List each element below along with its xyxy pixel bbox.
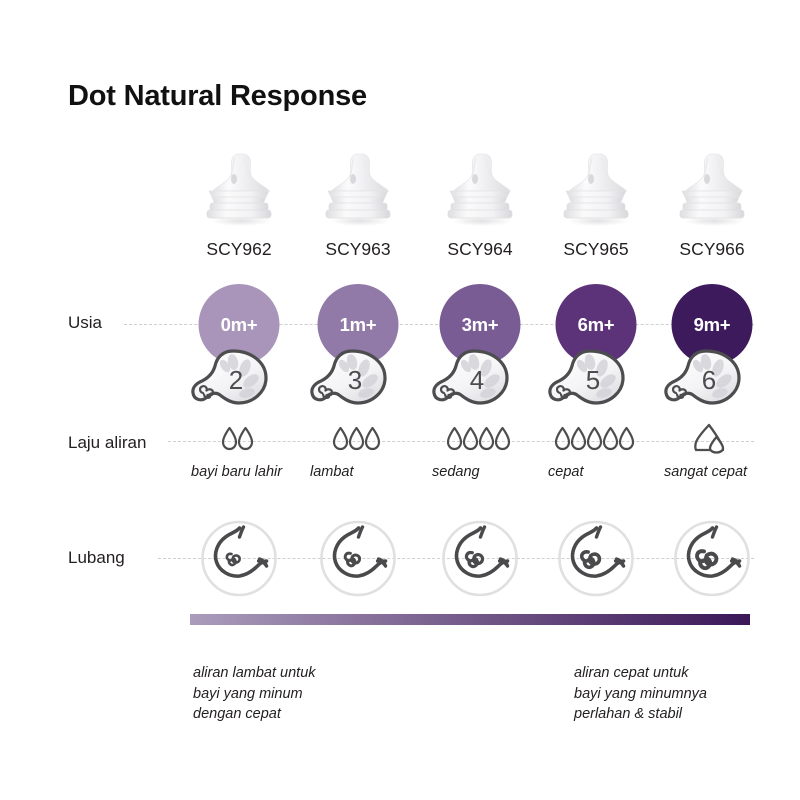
- hole-diagram: [319, 519, 398, 598]
- nipple-size-icon-5: 5: [546, 348, 630, 412]
- age-label: 0m+: [221, 314, 258, 336]
- bottle-teat-icon: [664, 142, 760, 226]
- flow-rate-label: cepat: [534, 463, 664, 482]
- nipple-number-icon: 5: [546, 348, 630, 412]
- nipple-number-icon: 4: [430, 348, 514, 412]
- flow-rate-drops: [692, 421, 732, 455]
- drop-icon: [366, 428, 379, 449]
- drop-group: [446, 425, 514, 451]
- age-label: 9m+: [694, 314, 731, 336]
- teat-image-2: [432, 142, 528, 226]
- nipple-size-icon-2: 2: [189, 348, 273, 412]
- product-code: SCY963: [300, 239, 416, 260]
- drop-group: [554, 425, 638, 451]
- svg-text:4: 4: [470, 365, 484, 395]
- double-drop-icon: [692, 422, 732, 454]
- nipple-hole-icon: [200, 519, 279, 598]
- nipple-size-icon-4: 4: [430, 348, 514, 412]
- teat-image-1: [310, 142, 406, 226]
- hole-diagram: [200, 519, 279, 598]
- drop-group: [221, 425, 257, 451]
- svg-text:3: 3: [348, 365, 362, 395]
- product-code: SCY965: [538, 239, 654, 260]
- drop-icon: [350, 428, 363, 449]
- teat-image-4: [664, 142, 760, 226]
- age-label: 1m+: [340, 314, 377, 336]
- svg-text:5: 5: [586, 365, 600, 395]
- drop-icon: [239, 428, 252, 449]
- nipple-number-icon: 6: [662, 348, 746, 412]
- drop-icon: [572, 428, 585, 449]
- teat-image-0: [191, 142, 287, 226]
- drop-icon: [464, 428, 477, 449]
- product-column-scy964[interactable]: SCY964 3m+ 4: [422, 0, 538, 800]
- drop-icon: [223, 428, 236, 449]
- drop-icon: [588, 428, 601, 449]
- row-label-hole: Lubang: [68, 548, 125, 568]
- row-label-age: Usia: [68, 313, 102, 333]
- product-column-scy963[interactable]: SCY963 1m+ 3: [300, 0, 416, 800]
- product-column-scy962[interactable]: SCY962 0m+ 2: [181, 0, 297, 800]
- bottle-teat-icon: [432, 142, 528, 226]
- bottle-teat-icon: [310, 142, 406, 226]
- nipple-hole-icon: [557, 519, 636, 598]
- svg-text:6: 6: [702, 365, 716, 395]
- drop-icon: [604, 428, 617, 449]
- flow-rate-label: bayi baru lahir: [177, 463, 307, 482]
- nipple-size-icon-6: 6: [662, 348, 746, 412]
- bottle-teat-icon: [191, 142, 287, 226]
- nipple-number-icon: 3: [308, 348, 392, 412]
- teat-image-3: [548, 142, 644, 226]
- drop-icon: [334, 428, 347, 449]
- drop-icon: [556, 428, 569, 449]
- drop-icon: [620, 428, 633, 449]
- flow-rate-label: lambat: [296, 463, 426, 482]
- drop-group: [332, 425, 384, 451]
- hole-diagram: [673, 519, 752, 598]
- nipple-flow-comparison-chart: Dot Natural Response Usia Laju aliran Lu…: [0, 0, 800, 800]
- flow-rate-drops: [332, 421, 384, 455]
- bottle-teat-icon: [548, 142, 644, 226]
- product-code: SCY966: [654, 239, 770, 260]
- hole-diagram: [557, 519, 636, 598]
- product-column-scy965[interactable]: SCY965 6m+ 5: [538, 0, 654, 800]
- nipple-number-icon: 2: [189, 348, 273, 412]
- flow-rate-drops: [221, 421, 257, 455]
- nipple-hole-icon: [319, 519, 398, 598]
- drop-icon: [480, 428, 493, 449]
- flow-rate-drops: [446, 421, 514, 455]
- svg-text:2: 2: [229, 365, 243, 395]
- flow-rate-drops: [554, 421, 638, 455]
- age-label: 3m+: [462, 314, 499, 336]
- hole-diagram: [441, 519, 520, 598]
- product-code: SCY962: [181, 239, 297, 260]
- flow-rate-label: sangat cepat: [650, 463, 780, 482]
- age-label: 6m+: [578, 314, 615, 336]
- flow-rate-label: sedang: [418, 463, 548, 482]
- drop-icon: [496, 428, 509, 449]
- product-column-scy966[interactable]: SCY966 9m+ 6: [654, 0, 770, 800]
- nipple-hole-icon: [441, 519, 520, 598]
- nipple-hole-icon: [673, 519, 752, 598]
- row-label-flow: Laju aliran: [68, 433, 146, 453]
- product-code: SCY964: [422, 239, 538, 260]
- nipple-size-icon-3: 3: [308, 348, 392, 412]
- drop-icon: [448, 428, 461, 449]
